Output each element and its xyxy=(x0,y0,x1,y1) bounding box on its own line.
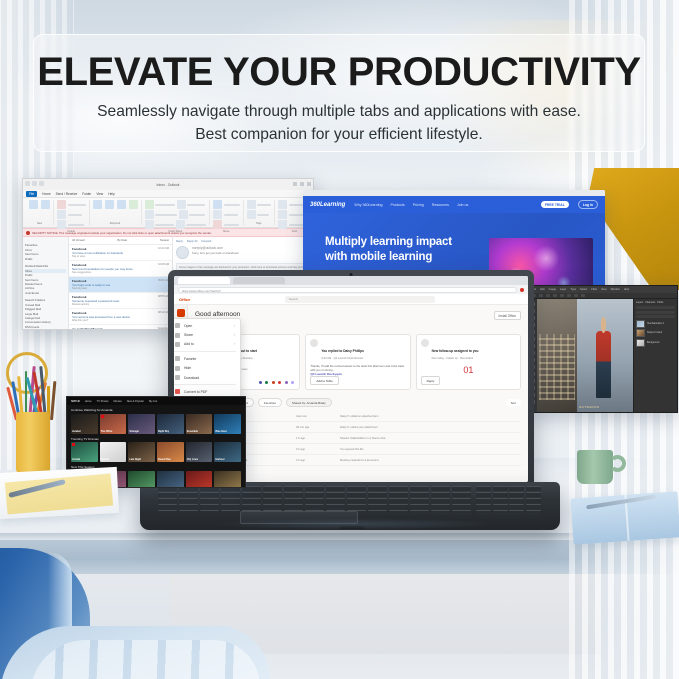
context-menu-item[interactable]: Download xyxy=(174,373,240,382)
keyboard-key[interactable] xyxy=(284,492,303,497)
layer-row[interactable]: Hue/Saturation 1 xyxy=(636,320,675,328)
site-navbar[interactable]: 360Learning Why 360Learning Products Pri… xyxy=(303,196,605,213)
hide-icon xyxy=(175,366,180,371)
canvas-caption: EXTRADOS xyxy=(580,405,600,409)
file-activity: Shared: Stakeholders in a Teams chat xyxy=(340,437,521,440)
pdf-icon xyxy=(175,389,180,394)
keyboard-key[interactable] xyxy=(431,486,450,491)
ribbon-group-move[interactable]: Move xyxy=(210,200,244,225)
menu-select[interactable]: Select xyxy=(580,288,587,291)
stream-tile[interactable]: Jezebel xyxy=(71,414,98,434)
keyboard-key[interactable] xyxy=(284,486,303,491)
message-subject-line: Sorry, let's get you back on Facebook. xyxy=(192,251,239,255)
coffee-mug xyxy=(577,450,613,484)
card3-title: New follow-up assigned to you xyxy=(432,349,479,353)
install-office-button[interactable]: Install Office xyxy=(494,311,521,320)
stream-tile-title: Stranger xyxy=(129,430,139,433)
context-menu-item[interactable]: Share› xyxy=(174,330,240,339)
file-date: 3 h ago xyxy=(296,459,336,462)
keyboard-key[interactable] xyxy=(158,498,177,503)
panel-opacity-row[interactable] xyxy=(636,311,675,314)
keyboard-key[interactable] xyxy=(305,504,324,509)
keyboard-key[interactable] xyxy=(389,498,408,503)
context-menu-item-label: Hide xyxy=(184,366,191,370)
add-to-todo-button[interactable]: Add to ToDo xyxy=(310,376,338,385)
keyboard-key[interactable] xyxy=(263,504,282,509)
keyboard-key[interactable] xyxy=(431,498,450,503)
outlook-titlebar: Inbox - Outlook xyxy=(23,179,313,190)
card2-body-desc: Thanks, I'll add the revised assets to t… xyxy=(310,364,405,372)
tab-send-receive[interactable]: Send / Receive xyxy=(56,192,78,196)
keyboard-key[interactable] xyxy=(389,504,408,509)
tab-home[interactable]: Home xyxy=(42,192,51,196)
file-activity: Daisy P. edited an attached item xyxy=(340,415,521,418)
home-app[interactable] xyxy=(177,309,185,317)
stream-nav-tvshows[interactable]: TV Shows xyxy=(97,400,109,403)
keyboard-key[interactable] xyxy=(263,486,282,491)
keyboard-key[interactable] xyxy=(179,492,198,497)
url-input[interactable]: https://www.office.com/?auth=2 xyxy=(178,287,517,293)
chevron-right-icon: › xyxy=(234,333,235,337)
free-trial-button[interactable]: FREE TRIAL xyxy=(541,201,569,208)
stream-tile[interactable]: Electric xyxy=(186,471,213,489)
menu-type[interactable]: Type xyxy=(570,288,576,291)
nav-products[interactable]: Products xyxy=(391,203,405,207)
reply-all-button[interactable]: Reply All xyxy=(187,240,197,243)
warning-icon xyxy=(26,231,30,235)
keyboard-key[interactable] xyxy=(326,498,345,503)
nav-section-favorites: Favorites xyxy=(25,243,66,247)
pencil xyxy=(50,381,56,420)
numpad-key[interactable] xyxy=(476,504,491,509)
message-sender: noreply@outlook.com Sorry, let's get you… xyxy=(176,246,310,259)
menu-separator xyxy=(174,384,236,385)
stream-tile-title: Blue Hour xyxy=(215,430,226,433)
context-menu-item-label: Download xyxy=(184,376,199,380)
card2-subtitle: 9:42 AM · Q4 Launch Deck Review xyxy=(321,357,364,360)
tab-help[interactable]: Help xyxy=(108,192,115,196)
security-banner-text: SECURITY NOTICE: This message originated… xyxy=(32,231,212,235)
searchfolder-rss[interactable]: RSS Feeds xyxy=(25,325,66,329)
keyboard-numpad[interactable] xyxy=(476,486,542,508)
stream-nav-home[interactable]: Home xyxy=(85,400,92,403)
numpad-key[interactable] xyxy=(509,510,524,515)
keyboard-key[interactable] xyxy=(242,504,261,509)
download-icon xyxy=(175,375,180,380)
site-nav-links[interactable]: Why 360Learning Products Pricing Resourc… xyxy=(354,203,532,207)
keyboard-key[interactable] xyxy=(452,492,471,497)
stream-tile-title: Night Sky xyxy=(158,430,169,433)
keyboard-key[interactable] xyxy=(389,486,408,491)
menu-filter[interactable]: Filter xyxy=(591,288,597,291)
keyboard-key[interactable] xyxy=(305,498,324,503)
sender-address: noreply@outlook.com xyxy=(192,246,239,250)
card-followup[interactable]: New follow-up assigned to you Due today … xyxy=(416,334,521,390)
panel-blend-row[interactable] xyxy=(636,306,675,309)
stream-tile-title: Jezebel xyxy=(72,430,81,433)
keyboard-key[interactable] xyxy=(452,486,471,491)
stream-row[interactable]: ArcadeQuartetLate NightDesert RunCity Li… xyxy=(67,442,245,462)
file-activity: You opened this file xyxy=(340,448,521,451)
keyboard-key[interactable] xyxy=(410,498,429,503)
stream-nav-new[interactable]: New & Popular xyxy=(127,400,144,403)
keyboard-key[interactable] xyxy=(452,510,471,515)
context-menu-item-label: Share xyxy=(184,333,193,337)
keyboard-key[interactable] xyxy=(326,492,345,497)
stream-tile-title: Desert Run xyxy=(158,458,171,461)
filter-all-unread[interactable]: All Unread xyxy=(72,239,85,242)
stream-tile[interactable]: Signal xyxy=(157,471,184,489)
numpad-key[interactable] xyxy=(526,486,541,491)
stream-tile-title: The Office xyxy=(101,430,113,433)
context-menu-item[interactable]: Add to› xyxy=(174,340,240,349)
keyboard-key[interactable] xyxy=(452,504,471,509)
keyboard-key[interactable] xyxy=(410,492,429,497)
folder-drafts[interactable]: Drafts xyxy=(25,257,66,261)
sort-order[interactable]: Newest xyxy=(160,239,169,242)
stream-tile-title: Ensemble xyxy=(187,430,198,433)
keyboard-key[interactable] xyxy=(368,504,387,509)
outlook-ribbon-tabs[interactable]: File Home Send / Receive Folder View Hel… xyxy=(23,190,313,198)
ribbon-group-quicksteps[interactable]: Quick Steps xyxy=(142,200,211,225)
keyboard-main-keys[interactable] xyxy=(158,486,473,508)
keyboard-key[interactable] xyxy=(158,510,177,515)
context-menu-item[interactable]: Open› xyxy=(174,321,240,330)
context-menu-item[interactable]: Favorite xyxy=(174,354,240,363)
keyboard-key[interactable] xyxy=(221,492,240,497)
keyboard-key[interactable] xyxy=(431,504,450,509)
site-logo[interactable]: 360Learning xyxy=(310,202,345,208)
page-title: ELEVATE YOUR PRODUCTIVITY xyxy=(34,52,644,92)
keyboard-key[interactable] xyxy=(368,492,387,497)
tab-paths[interactable]: Paths xyxy=(657,301,663,304)
menu-layer[interactable]: Layer xyxy=(560,288,567,291)
followup-count: 01 xyxy=(421,365,516,375)
card3-subtitle: Due today · Follow up · Reminders xyxy=(432,357,479,360)
numpad-key[interactable] xyxy=(509,504,524,509)
numpad-key[interactable] xyxy=(476,510,491,515)
numpad-key[interactable] xyxy=(476,486,491,491)
file-activity: Meeting material for a document xyxy=(340,459,521,462)
context-menu-item-label: Favorite xyxy=(184,357,196,361)
office-chair xyxy=(0,548,270,679)
nav-join-us[interactable]: Join us xyxy=(457,203,468,207)
stream-tile-title: Signal xyxy=(158,487,165,489)
folder-junk[interactable]: Junk Email xyxy=(25,291,66,295)
stream-nav-mylist[interactable]: My List xyxy=(149,400,157,403)
keyboard-key[interactable] xyxy=(305,492,324,497)
panel-tabs[interactable]: Layers Channels Paths xyxy=(636,301,675,304)
numpad-key[interactable] xyxy=(476,492,491,497)
keyboard-key[interactable] xyxy=(158,492,177,497)
stream-tile[interactable]: Open Road xyxy=(128,471,155,489)
keyboard-key[interactable] xyxy=(284,504,303,509)
numpad-key[interactable] xyxy=(493,504,508,509)
photoshop-panels[interactable]: Layers Channels Paths Hue/Saturation 1Su… xyxy=(633,299,677,413)
sort-by-date[interactable]: By Date xyxy=(118,239,128,242)
stream-tile-title: City Lines xyxy=(187,458,198,461)
keyboard-key[interactable] xyxy=(221,498,240,503)
keyboard-key[interactable] xyxy=(326,486,345,491)
keyboard-key[interactable] xyxy=(200,504,219,509)
star-icon xyxy=(175,356,180,361)
stream-tile[interactable]: Harbour xyxy=(214,442,241,462)
nav-section-search: Search Folders xyxy=(25,298,66,302)
keyboard-key[interactable] xyxy=(221,510,240,515)
stream-tile[interactable]: Blue Hour xyxy=(214,414,241,434)
keyboard-key[interactable] xyxy=(179,504,198,509)
file-date: 3 h ago xyxy=(296,448,336,451)
login-button[interactable]: Log in xyxy=(578,200,598,209)
stream-tile[interactable]: Stranger xyxy=(128,414,155,434)
chair-seat xyxy=(0,626,270,679)
message-preview: Tap to view xyxy=(72,255,169,258)
ribbon-group-respond[interactable]: Respond xyxy=(90,200,142,225)
laptop-contact-shadow xyxy=(150,516,560,532)
streaming-logo[interactable]: NETFLIX xyxy=(71,400,80,403)
layer-name: Hue/Saturation 1 xyxy=(647,323,664,325)
stream-tile-title: Electric xyxy=(187,487,196,489)
search-input[interactable]: Search xyxy=(285,296,435,303)
context-menu-item-label: Convert to PDF xyxy=(184,390,207,394)
office-header[interactable]: Office Search xyxy=(174,294,528,305)
browser-tab-2[interactable] xyxy=(233,277,285,284)
ribbon-group-tags-label: Tags xyxy=(247,222,272,225)
stream-tile[interactable]: Quartet xyxy=(100,442,127,462)
keyboard-key[interactable] xyxy=(389,492,408,497)
stream-tile[interactable]: Ensemble xyxy=(186,414,213,434)
keyboard[interactable] xyxy=(158,486,542,508)
stream-tile-title: Harbour xyxy=(215,458,224,461)
panel-lock-row[interactable] xyxy=(636,315,675,318)
browser-tabstrip[interactable] xyxy=(174,276,528,285)
keyboard-key[interactable] xyxy=(326,504,345,509)
numpad-key[interactable] xyxy=(493,492,508,497)
mug-handle xyxy=(609,455,626,472)
sort-button[interactable]: Sort xyxy=(506,399,521,406)
hero-subtitle-line1: Seamlessly navigate through multiple tab… xyxy=(34,101,644,123)
share-icon xyxy=(175,333,180,338)
stream-tile[interactable]: Late Night xyxy=(128,442,155,462)
keyboard-key[interactable] xyxy=(305,486,324,491)
context-menu[interactable]: Open›Share›Add to›FavoriteHideDownloadCo… xyxy=(174,318,241,400)
keyboard-key[interactable] xyxy=(347,486,366,491)
hero-banner: ELEVATE YOUR PRODUCTIVITY Seamlessly nav… xyxy=(33,34,645,152)
tab-view[interactable]: View xyxy=(96,192,103,196)
stream-nav-movies[interactable]: Movies xyxy=(113,400,121,403)
message-list-item[interactable]: Facebook10:42 AMYou have a new notificat… xyxy=(69,245,172,261)
pencil-cup xyxy=(16,412,50,474)
message-time: 10:42 AM xyxy=(158,247,169,251)
nav-section-datafile: Outlook Data File xyxy=(25,264,66,268)
ribbon-group-respond-label: Respond xyxy=(93,222,138,225)
menu-separator xyxy=(174,351,236,352)
bell-icon xyxy=(421,339,429,347)
ribbon-group-new[interactable]: New xyxy=(26,200,54,225)
layer-row[interactable]: Background xyxy=(636,339,675,347)
numpad-key[interactable] xyxy=(526,510,541,515)
stream-row-label: Trending TV Dramas xyxy=(67,434,245,443)
new-badge-icon xyxy=(101,415,104,418)
keyboard-key[interactable] xyxy=(284,498,303,503)
keyboard-key[interactable] xyxy=(431,510,450,515)
context-menu-item-label: Add to xyxy=(184,342,194,346)
nav-why[interactable]: Why 360Learning xyxy=(354,203,382,207)
tab-file[interactable]: File xyxy=(26,191,37,197)
keyboard-key[interactable] xyxy=(263,492,282,497)
file-date: Just now xyxy=(296,415,336,418)
stream-tile-title: Midday xyxy=(215,487,223,489)
card-reply-daisy[interactable]: You replied to Daisy Phillips 9:42 AM · … xyxy=(305,334,410,390)
browser-addressbar[interactable]: https://www.office.com/?auth=2 xyxy=(174,285,528,294)
menu-view[interactable]: View xyxy=(601,288,607,291)
stream-tile-title: Quartet xyxy=(101,458,110,461)
layer-name: Subject Cutout xyxy=(647,332,662,334)
add-to-icon xyxy=(175,342,180,347)
keyboard-key[interactable] xyxy=(263,498,282,503)
person-avatar-icon xyxy=(310,339,318,347)
context-menu-item-label: Open xyxy=(184,324,192,328)
numpad-key[interactable] xyxy=(493,510,508,515)
stream-row[interactable]: JezebelThe OfficeStrangerNight SkyEnsemb… xyxy=(67,414,245,434)
keyboard-key[interactable] xyxy=(179,498,198,503)
keyboard-key[interactable] xyxy=(410,504,429,509)
quick-access-toolbar[interactable] xyxy=(25,181,44,186)
file-activity: Daisy P. edited your attachment xyxy=(340,426,521,429)
layer-thumbnail xyxy=(636,329,645,337)
stream-tile[interactable]: City Lines xyxy=(186,442,213,462)
keyboard-key[interactable] xyxy=(200,492,219,497)
stream-tile[interactable]: Arcade xyxy=(71,442,98,462)
reading-pane-actions[interactable]: Reply Reply All Forward xyxy=(176,240,310,243)
open-icon xyxy=(175,323,180,328)
nav-pricing[interactable]: Pricing xyxy=(413,203,424,207)
browser-tab-active[interactable] xyxy=(178,277,230,284)
keyboard-key[interactable] xyxy=(368,486,387,491)
stream-tile-title: Open Road xyxy=(129,487,142,489)
chip-favorites[interactable]: Favorites xyxy=(258,398,282,407)
chevron-right-icon: › xyxy=(234,324,235,328)
layer-row[interactable]: Subject Cutout xyxy=(636,329,675,337)
chip-shared-by[interactable]: Shared by: Amanda Brady xyxy=(286,398,332,407)
menu-window[interactable]: Window xyxy=(611,288,620,291)
keyboard-key[interactable] xyxy=(389,510,408,515)
ribbon-group-delete[interactable]: Delete xyxy=(54,200,90,225)
keyboard-key[interactable] xyxy=(368,498,387,503)
tab-channels[interactable]: Channels xyxy=(645,301,655,304)
keyboard-key[interactable] xyxy=(242,492,261,497)
tab-folder[interactable]: Folder xyxy=(82,192,91,196)
reply-button[interactable]: Reply xyxy=(176,240,183,243)
stream-tile-title: Arcade xyxy=(72,458,80,461)
keyboard-key[interactable] xyxy=(431,492,450,497)
keyboard-key[interactable] xyxy=(221,504,240,509)
outlook-folder-pane[interactable]: Favorites Inbox Sent Items Drafts Outloo… xyxy=(23,237,69,330)
canvas-subject xyxy=(596,331,610,398)
stream-tile[interactable]: Desert Run xyxy=(157,442,184,462)
card2-title: You replied to Daisy Phillips xyxy=(321,349,364,353)
avatar xyxy=(176,246,189,259)
window-controls[interactable] xyxy=(293,182,311,186)
numpad-key[interactable] xyxy=(493,486,508,491)
canvas-image-right: EXTRADOS xyxy=(577,299,633,413)
stream-row-label: Continue Watching for Amanda xyxy=(67,405,245,414)
context-menu-item[interactable]: Hide xyxy=(174,364,240,373)
numpad-key[interactable] xyxy=(509,492,524,497)
layer-thumbnail xyxy=(636,320,645,328)
extension-icon[interactable] xyxy=(520,288,524,292)
file-date: 1 h ago xyxy=(296,437,336,440)
ribbon-group-move-label: Move xyxy=(213,230,240,233)
context-menu-overlay[interactable]: Open›Share›Add to›FavoriteHideDownloadCo… xyxy=(174,318,251,400)
numpad-key[interactable] xyxy=(509,498,524,503)
keyboard-key[interactable] xyxy=(368,510,387,515)
keyboard-key[interactable] xyxy=(158,504,177,509)
chevron-right-icon: › xyxy=(234,342,235,346)
menu-help[interactable]: Help xyxy=(624,288,629,291)
stream-tile-title: Late Night xyxy=(129,458,141,461)
keyboard-key[interactable] xyxy=(200,498,219,503)
greeting-text: Good afternoon xyxy=(195,311,521,318)
office-logo[interactable]: Office xyxy=(179,297,190,302)
keyboard-key[interactable] xyxy=(410,486,429,491)
stream-tile[interactable]: The Office xyxy=(100,414,127,434)
keyboard-key[interactable] xyxy=(242,498,261,503)
numpad-key[interactable] xyxy=(493,498,508,503)
new-badge-icon xyxy=(72,443,75,446)
keyboard-key[interactable] xyxy=(410,510,429,515)
numpad-key[interactable] xyxy=(526,498,541,503)
ribbon-group-tags[interactable]: Tags xyxy=(244,200,276,225)
keyboard-key[interactable] xyxy=(347,498,366,503)
layer-name: Background xyxy=(647,342,659,344)
stream-tile[interactable]: Midday xyxy=(214,471,241,489)
numpad-key[interactable] xyxy=(476,498,491,503)
keyboard-key[interactable] xyxy=(347,492,366,497)
ribbon-group-new-label: New xyxy=(29,222,50,225)
message-list-header[interactable]: All Unread By Date Newest xyxy=(69,237,172,245)
forward-button[interactable]: Forward xyxy=(201,240,211,243)
tab-layers[interactable]: Layers xyxy=(636,301,643,304)
layer-thumbnail xyxy=(636,339,645,347)
keyboard-key[interactable] xyxy=(452,498,471,503)
outlook-ribbon[interactable]: New Delete Respond Quick Steps Move xyxy=(23,198,313,228)
keyboard-key[interactable] xyxy=(179,510,198,515)
streaming-navbar[interactable]: NETFLIX Home TV Shows Movies New & Popul… xyxy=(67,397,245,405)
hero-subtitle-line2: Best companion for your efficient lifest… xyxy=(34,124,644,146)
keyboard-key[interactable] xyxy=(347,504,366,509)
file-date: 30 min ago xyxy=(296,426,336,429)
numpad-key[interactable] xyxy=(509,486,524,491)
reply-card-button[interactable]: Reply xyxy=(421,376,441,385)
message-time: 10:08 AM xyxy=(158,263,169,267)
outlook-window-title: Inbox - Outlook xyxy=(157,183,180,187)
nav-resources[interactable]: Resources xyxy=(432,203,449,207)
stream-tile[interactable]: Night Sky xyxy=(157,414,184,434)
keyboard-key[interactable] xyxy=(200,510,219,515)
numpad-key[interactable] xyxy=(526,492,541,497)
numpad-key[interactable] xyxy=(526,504,541,509)
